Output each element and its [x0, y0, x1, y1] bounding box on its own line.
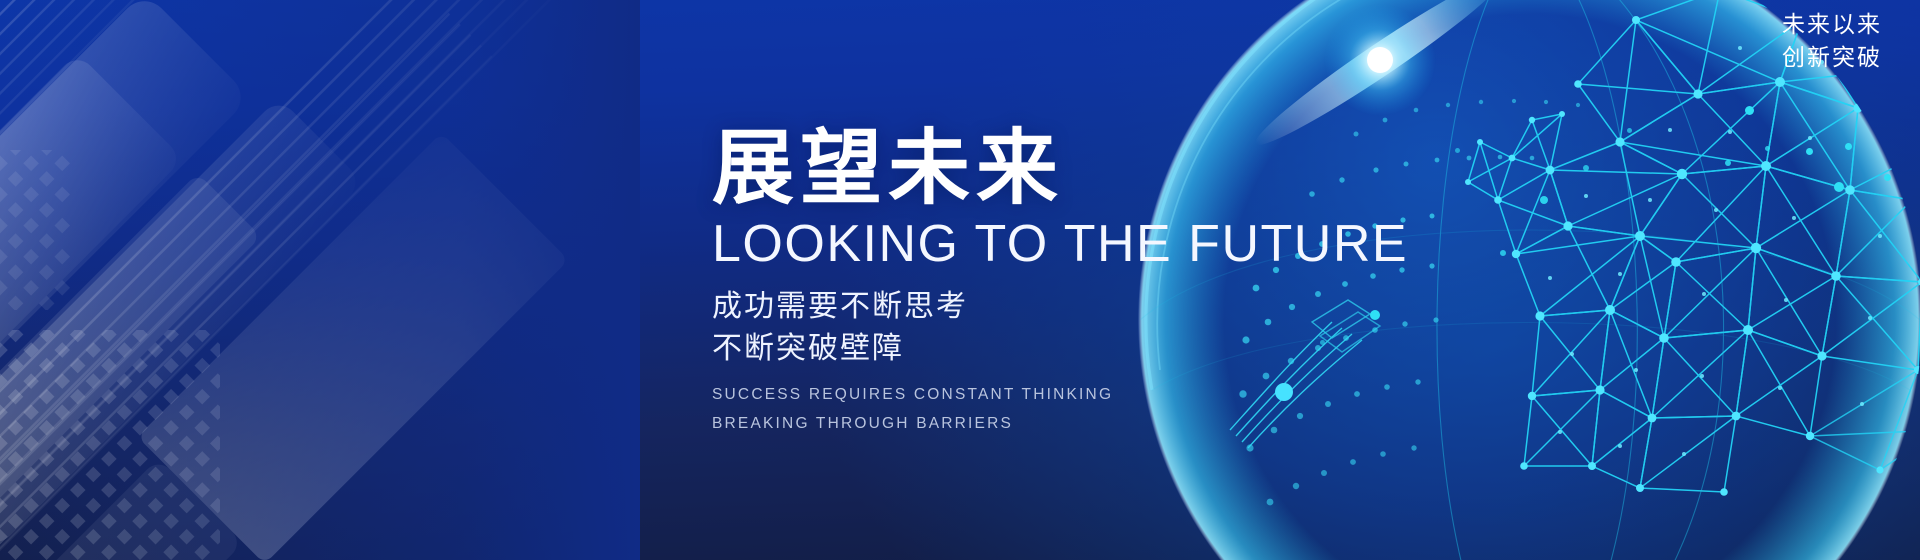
- subheadline-chinese-line-1: 成功需要不断思考: [712, 286, 1472, 327]
- accent-dot: [1583, 165, 1589, 171]
- caption-english-line-2: BREAKING THROUGH BARRIERS: [712, 410, 1472, 439]
- corner-slogan-line-2: 创新突破: [1782, 41, 1882, 74]
- accent-dot: [1765, 146, 1770, 151]
- accent-dot: [1500, 250, 1506, 256]
- corner-slogan: 未来以来 创新突破: [1782, 8, 1882, 75]
- caption-english-line-1: SUCCESS REQUIRES CONSTANT THINKING: [712, 381, 1472, 410]
- caption-english: SUCCESS REQUIRES CONSTANT THINKING BREAK…: [712, 381, 1472, 438]
- accent-dot: [1834, 182, 1844, 192]
- subheadline-chinese: 成功需要不断思考 不断突破壁障: [712, 286, 1472, 369]
- accent-dot: [1725, 160, 1731, 166]
- corner-slogan-line-1: 未来以来: [1782, 8, 1882, 41]
- subheadline-chinese-line-2: 不断突破壁障: [712, 328, 1472, 369]
- accent-dot: [1884, 174, 1891, 181]
- diagonal-ribbon-pattern: [0, 0, 640, 560]
- headline-english: LOOKING TO THE FUTURE: [712, 216, 1472, 272]
- hero-banner: 展望未来 LOOKING TO THE FUTURE 成功需要不断思考 不断突破…: [0, 0, 1920, 560]
- accent-dot: [1627, 128, 1632, 133]
- accent-dot: [1845, 143, 1852, 150]
- hero-copy-block: 展望未来 LOOKING TO THE FUTURE 成功需要不断思考 不断突破…: [712, 128, 1472, 438]
- accent-dot: [1806, 148, 1813, 155]
- accent-dot: [1540, 196, 1548, 204]
- diagonal-dot-grid: [0, 150, 220, 560]
- accent-dot: [1745, 106, 1754, 115]
- page-title: 展望未来: [712, 128, 1472, 210]
